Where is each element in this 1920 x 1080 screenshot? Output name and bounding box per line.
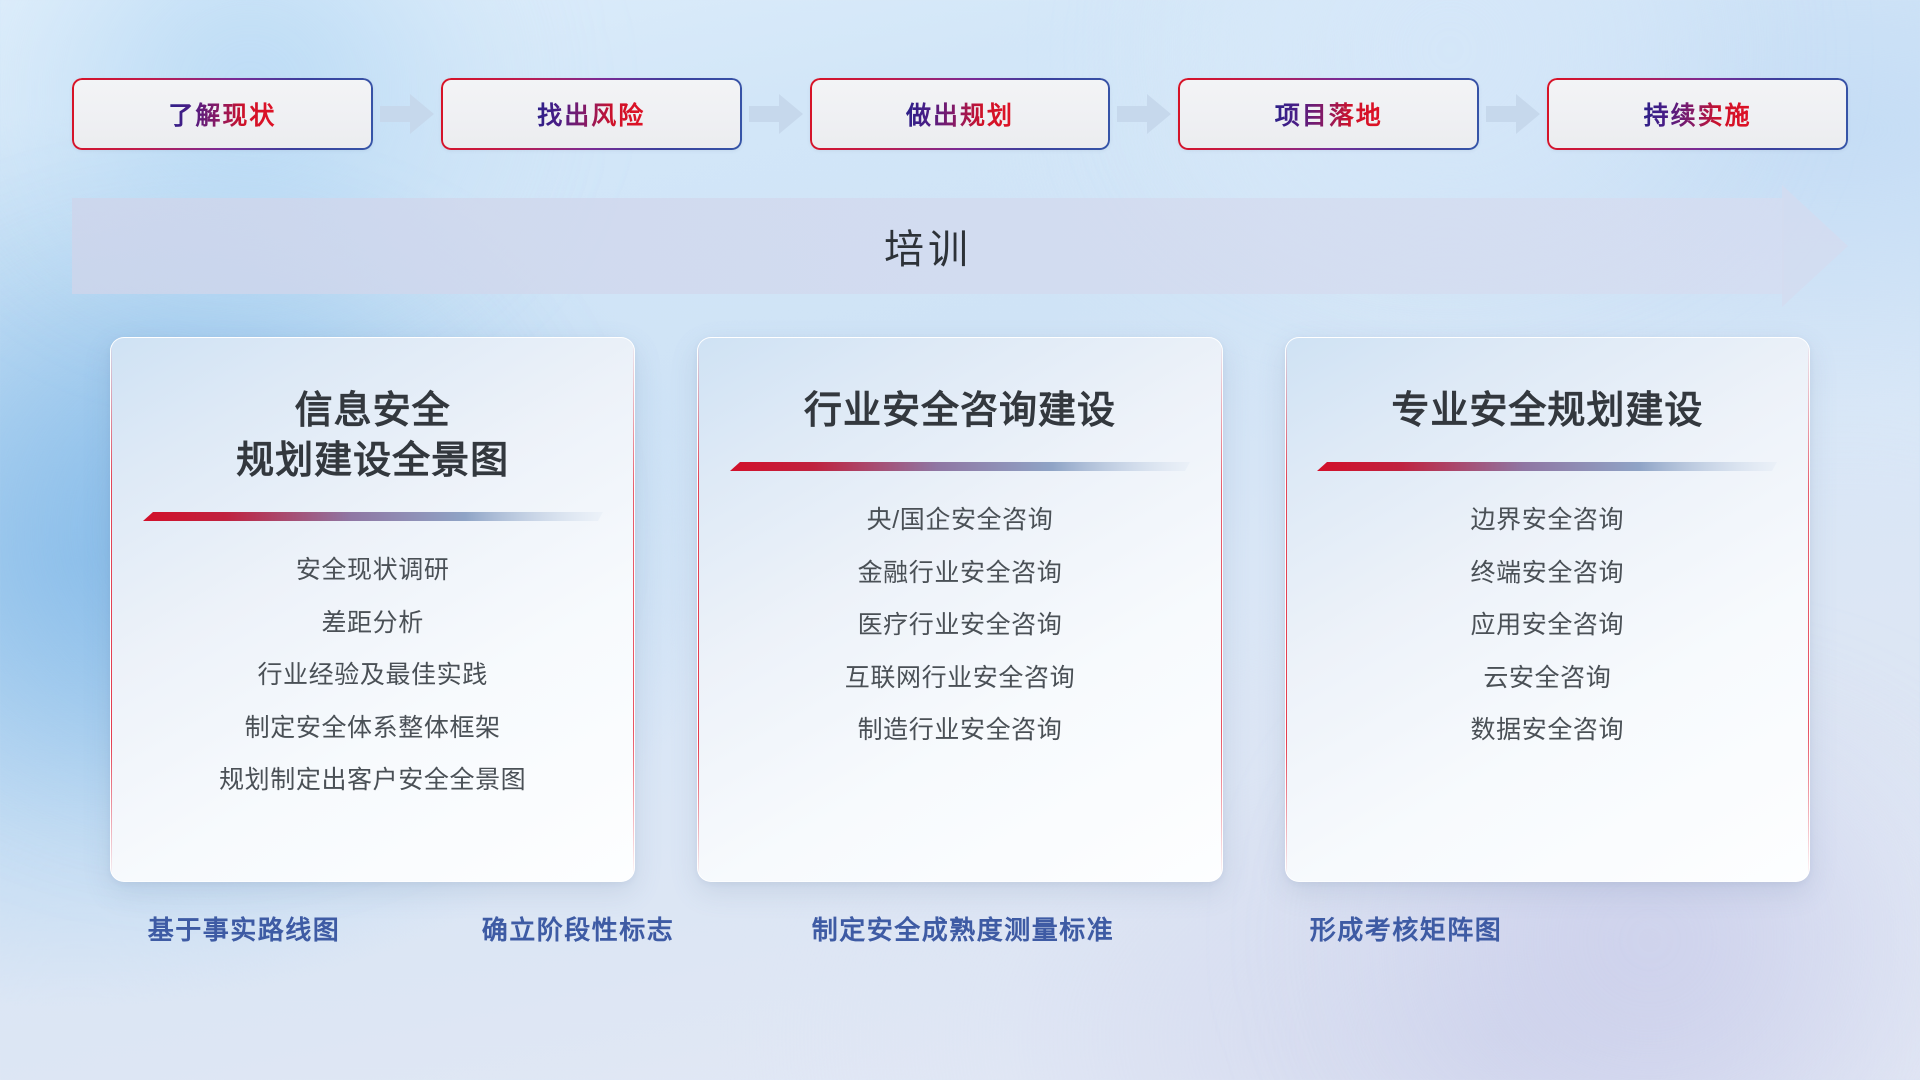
flow-step-label: 做出规划 (906, 96, 1014, 132)
card-item-list: 央/国企安全咨询 金融行业安全咨询 医疗行业安全咨询 互联网行业安全咨询 制造行… (845, 499, 1075, 752)
list-item: 金融行业安全咨询 (858, 552, 1063, 595)
flow-step-2[interactable]: 找出风险 (441, 78, 742, 150)
card-industry-security-consulting[interactable]: 行业安全咨询建设 央/国企安全咨询 金融行业安全咨询 医疗行业安全咨询 (697, 337, 1222, 882)
flow-step-label: 项目落地 (1275, 96, 1383, 132)
list-item: 终端安全咨询 (1471, 552, 1625, 595)
card-accent-right (1808, 338, 1810, 881)
list-item: 互联网行业安全咨询 (845, 657, 1075, 700)
list-item: 差距分析 (321, 602, 423, 645)
card-title: 行业安全咨询建设 (804, 386, 1116, 436)
card-title: 专业安全规划建设 (1391, 386, 1703, 436)
card-accent-left (697, 338, 699, 881)
list-item: 云安全咨询 (1483, 657, 1611, 700)
card-item-list: 安全现状调研 差距分析 行业经验及最佳实践 制定安全体系整体框架 规划制定出客户… (219, 549, 526, 802)
card-item-list: 边界安全咨询 终端安全咨询 应用安全咨询 云安全咨询 数据安全咨询 (1471, 499, 1625, 752)
outcome-label-row: 基于事实路线图 确立阶段性标志 制定安全成熟度测量标准 形成考核矩阵图 (0, 910, 1920, 966)
outcome-label-roadmap: 基于事实路线图 (148, 910, 341, 947)
card-divider (143, 512, 603, 523)
flow-step-4[interactable]: 项目落地 (1178, 78, 1479, 150)
list-item: 应用安全咨询 (1471, 604, 1625, 647)
training-banner: 培训 (72, 198, 1848, 294)
list-item: 安全现状调研 (296, 549, 450, 592)
arrow-right-icon (742, 91, 810, 137)
arrow-right-icon (1110, 91, 1178, 137)
card-accent-right (633, 338, 635, 881)
list-item: 数据安全咨询 (1471, 709, 1625, 752)
list-item: 行业经验及最佳实践 (257, 654, 487, 697)
list-item: 医疗行业安全咨询 (858, 604, 1063, 647)
card-divider (730, 462, 1190, 473)
list-item: 制定安全体系整体框架 (245, 707, 501, 750)
card-accent-left (1285, 338, 1287, 881)
list-item: 边界安全咨询 (1471, 499, 1625, 542)
flow-step-label: 持续实施 (1644, 96, 1752, 132)
flow-step-3[interactable]: 做出规划 (810, 78, 1111, 150)
outcome-label-maturity-standard: 制定安全成熟度测量标准 (812, 910, 1115, 947)
flow-step-1[interactable]: 了解现状 (72, 78, 373, 150)
flow-step-5[interactable]: 持续实施 (1547, 78, 1848, 150)
outcome-label-milestones: 确立阶段性标志 (482, 910, 675, 947)
arrow-right-icon (373, 91, 441, 137)
card-divider (1317, 462, 1777, 473)
flow-step-label: 找出风险 (537, 96, 645, 132)
list-item: 规划制定出客户安全全景图 (219, 759, 526, 802)
list-item: 央/国企安全咨询 (867, 499, 1054, 542)
card-accent-right (1221, 338, 1223, 881)
outcome-label-assessment-matrix: 形成考核矩阵图 (1310, 910, 1503, 947)
arrow-right-icon (1479, 91, 1547, 137)
card-accent-left (110, 338, 112, 881)
process-flow: 了解现状 找出风险 做出规划 项目落地 持续实施 (72, 78, 1848, 150)
card-professional-security-planning[interactable]: 专业安全规划建设 边界安全咨询 终端安全咨询 应用安全咨询 云安全 (1285, 337, 1810, 882)
banner-title: 培训 (72, 198, 1784, 294)
flow-step-label: 了解现状 (168, 96, 276, 132)
banner-arrow-head-icon (1782, 185, 1848, 307)
card-information-security-blueprint[interactable]: 信息安全 规划建设全景图 安全现状调研 差距分析 行业经验及最佳实践 (110, 337, 635, 882)
list-item: 制造行业安全咨询 (858, 709, 1063, 752)
card-title: 信息安全 规划建设全景图 (236, 386, 509, 486)
card-group: 信息安全 规划建设全景图 安全现状调研 差距分析 行业经验及最佳实践 (110, 337, 1810, 882)
